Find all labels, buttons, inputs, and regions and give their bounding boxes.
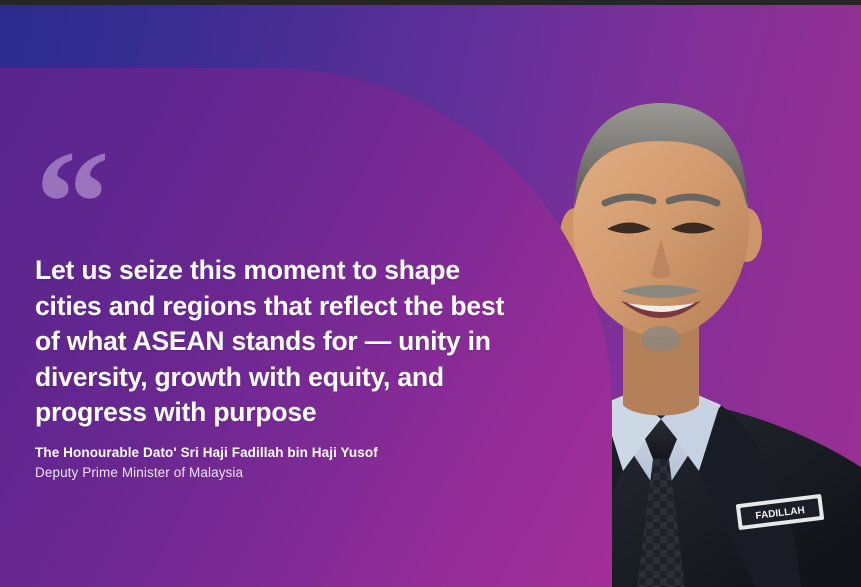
attribution-role: Deputy Prime Minister of Malaysia	[35, 463, 505, 483]
top-edge-strip	[0, 0, 861, 5]
quote-text: Let us seize this moment to shape cities…	[35, 253, 505, 431]
attribution-name: The Honourable Dato' Sri Haji Fadillah b…	[35, 443, 505, 463]
chin-beard	[641, 326, 681, 352]
quote-slide: FADILLAH	[0, 0, 861, 587]
attribution: The Honourable Dato' Sri Haji Fadillah b…	[35, 443, 505, 484]
quote-panel: “ Let us seize this moment to shape citi…	[0, 68, 612, 587]
quote-panel-content: “ Let us seize this moment to shape citi…	[0, 68, 560, 587]
